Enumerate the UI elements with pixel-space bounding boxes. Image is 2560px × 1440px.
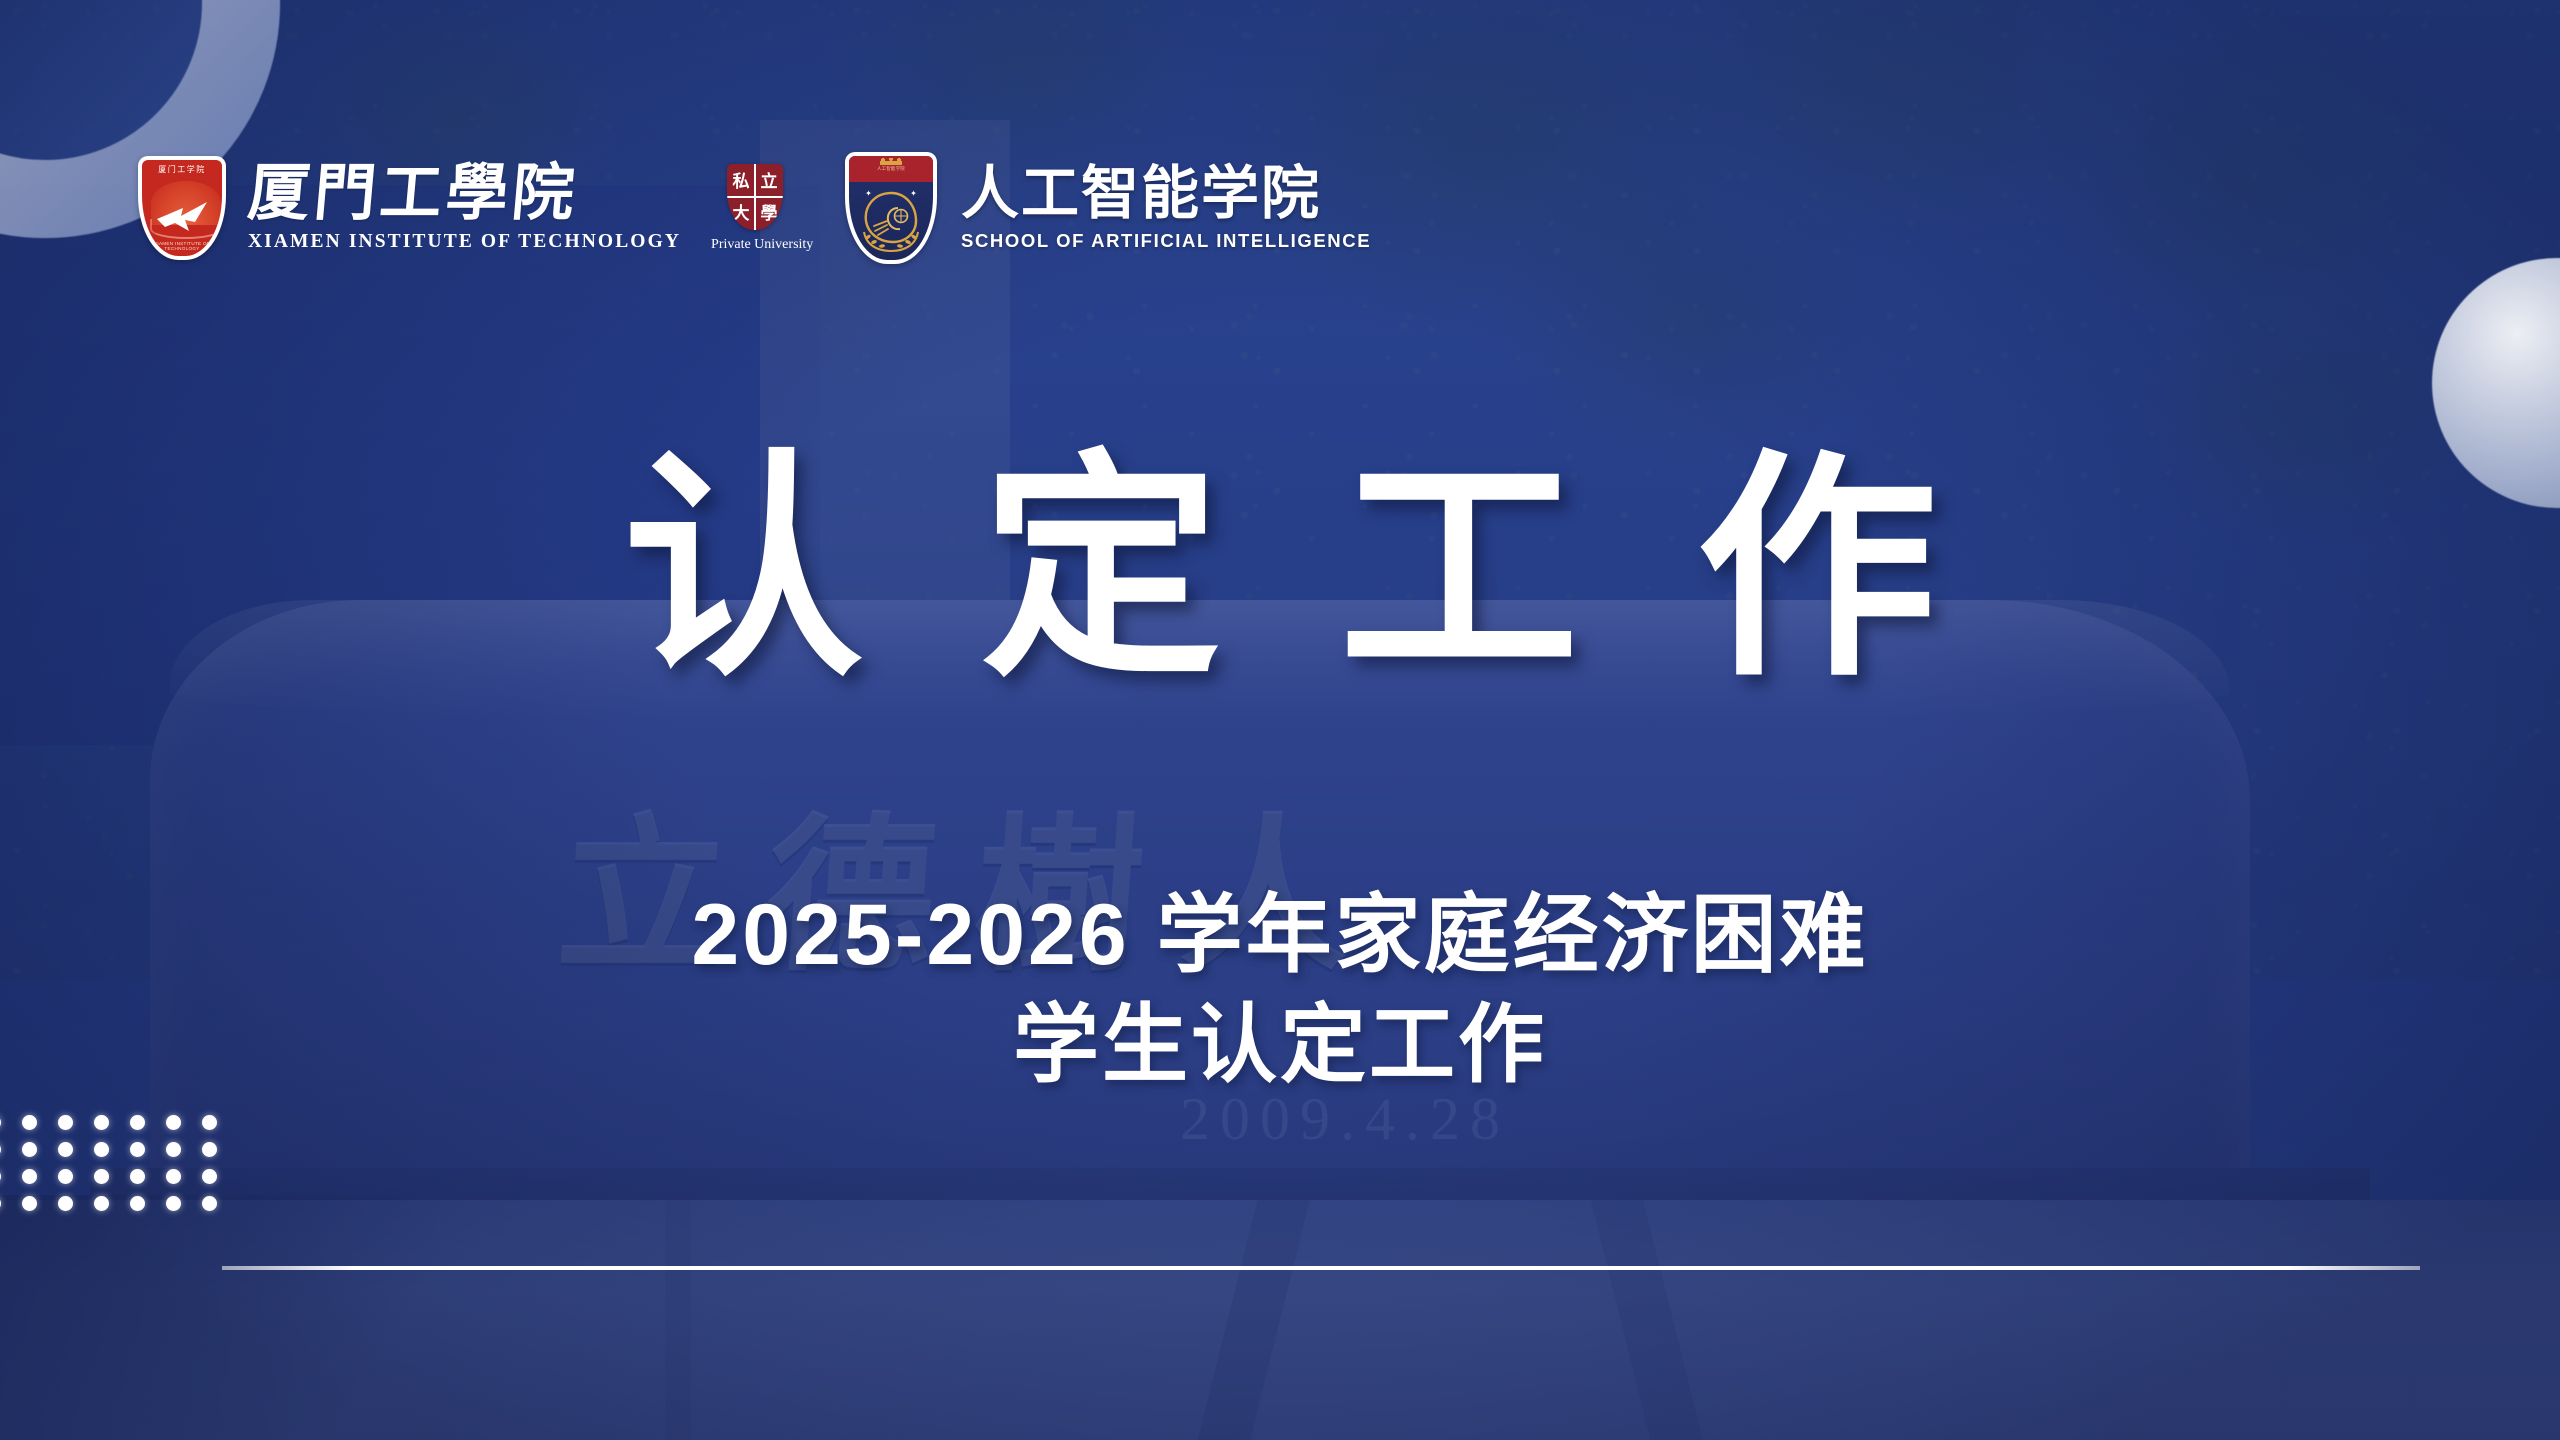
seal-horizontal-divider (727, 196, 783, 198)
decor-dot (94, 1142, 109, 1157)
decor-dot (94, 1115, 109, 1130)
decor-dot (58, 1196, 73, 1211)
decor-dot (22, 1115, 37, 1130)
seal-char-2: 立 (756, 165, 782, 195)
bottom-divider-rule (222, 1266, 2420, 1270)
subtitle-line-1: 2025-2026 学年家庭经济困难 (0, 880, 2560, 990)
decor-dot (0, 1169, 1, 1184)
decor-dot (94, 1169, 109, 1184)
logo-bar: 厦门工学院 XIAMEN INSTITUTE OF TECHNOLOGY 厦門工… (138, 152, 1371, 264)
seal-char-3: 大 (728, 197, 754, 227)
decor-dot (0, 1142, 1, 1157)
xiamen-institute-name-cn: 厦門工學院 (245, 163, 684, 226)
crest-band-label: 人工智能学院 (877, 166, 905, 172)
ai-school-name-en: SCHOOL OF ARTIFICIAL INTELLIGENCE (961, 230, 1371, 252)
crown-icon (880, 158, 902, 165)
crest-wave-ornament (150, 219, 222, 239)
xiamen-institute-wordmark: 厦門工學院 XIAMEN INSTITUTE OF TECHNOLOGY (248, 163, 681, 253)
crest-top-label: 厦门工学院 (142, 164, 222, 175)
decor-dot (58, 1142, 73, 1157)
title-slide: 立德樹人 2009.4.28 厦门工学院 XIAMEN INSTITUTE OF… (0, 0, 2560, 1440)
xiamen-institute-crest-icon: 厦门工学院 XIAMEN INSTITUTE OF TECHNOLOGY (138, 156, 226, 260)
decor-dot (166, 1142, 181, 1157)
ai-school-crest-icon: 人工智能学院 ✦ ✦ (845, 152, 937, 264)
private-university-seal: 私 立 大 學 Private University (711, 164, 799, 253)
seal-char-4: 學 (756, 197, 782, 227)
decor-dot (58, 1115, 73, 1130)
decor-dot (58, 1169, 73, 1184)
decor-dot (130, 1169, 145, 1184)
decor-dot (202, 1169, 217, 1184)
xiamen-institute-name-en: XIAMEN INSTITUTE OF TECHNOLOGY (248, 231, 681, 253)
subtitle-line-2: 学生认定工作 (0, 990, 2560, 1100)
decor-dot (22, 1169, 37, 1184)
page-title: 认定工作 (0, 440, 2560, 699)
decor-dot (202, 1115, 217, 1130)
decor-dot (166, 1169, 181, 1184)
decor-dot (130, 1196, 145, 1211)
decor-dot (166, 1115, 181, 1130)
laurel-wreath-icon (858, 228, 924, 254)
private-university-caption: Private University (711, 237, 799, 253)
page-subtitle: 2025-2026 学年家庭经济困难 学生认定工作 (0, 880, 2560, 1100)
seal-char-1: 私 (728, 165, 754, 195)
decor-dot (166, 1196, 181, 1211)
dot-grid-decoration (0, 1115, 238, 1223)
decor-dot (202, 1196, 217, 1211)
crest-bottom-label: XIAMEN INSTITUTE OF TECHNOLOGY (142, 241, 222, 251)
ai-school-name-cn: 人工智能学院 (961, 164, 1371, 223)
decor-dot (130, 1115, 145, 1130)
decor-dot (202, 1142, 217, 1157)
decor-dot (22, 1196, 37, 1211)
decor-dot (0, 1115, 1, 1130)
decor-dot (0, 1196, 1, 1211)
private-university-shield-icon: 私 立 大 學 (727, 164, 783, 230)
decor-dot (22, 1142, 37, 1157)
decor-dot (130, 1142, 145, 1157)
decor-dot (94, 1196, 109, 1211)
ai-school-wordmark: 人工智能学院 SCHOOL OF ARTIFICIAL INTELLIGENCE (961, 164, 1371, 251)
